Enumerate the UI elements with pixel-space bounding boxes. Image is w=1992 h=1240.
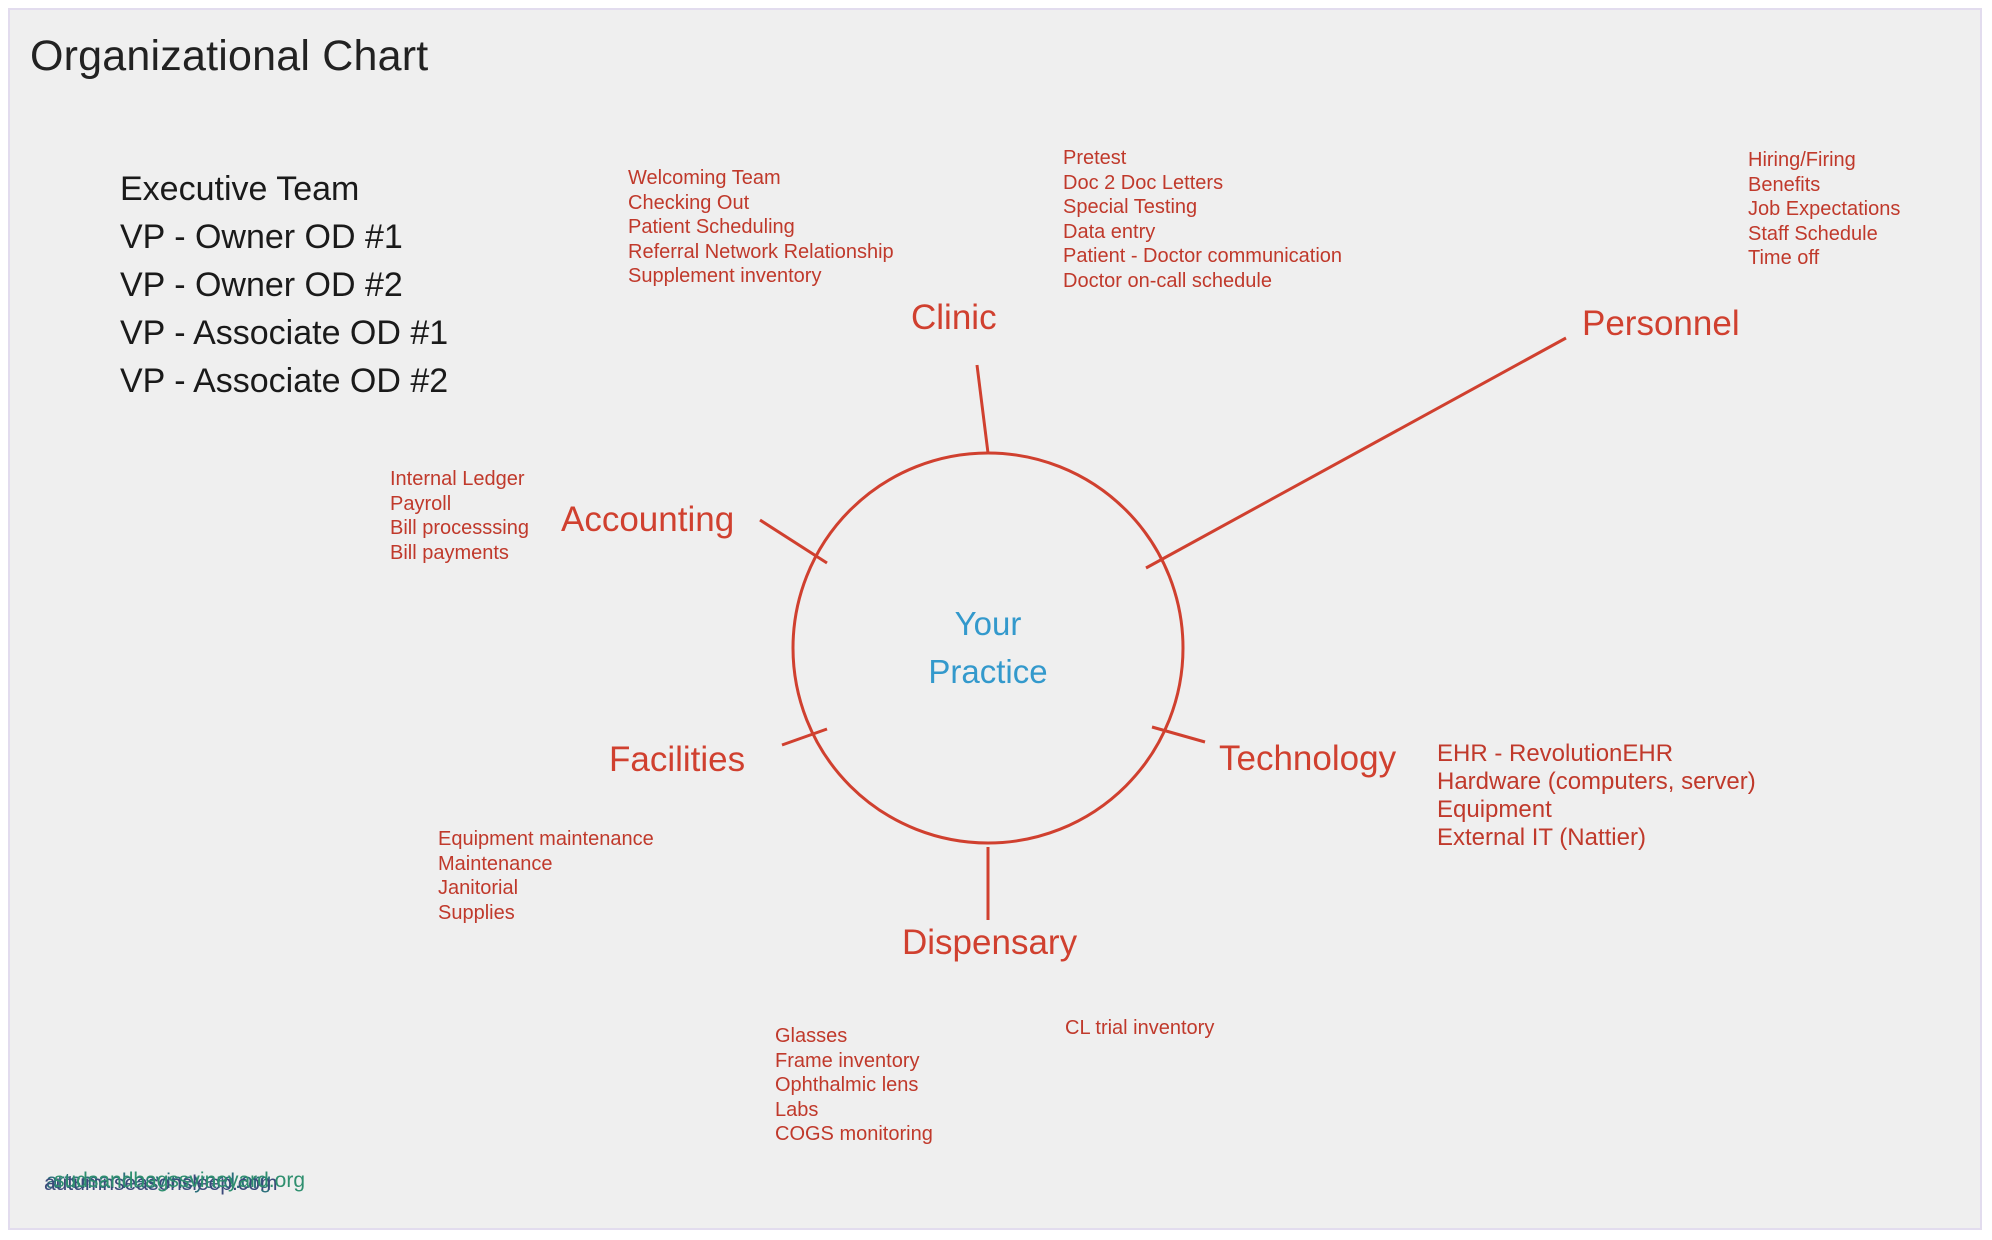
- node-facilities[interactable]: Facilities: [609, 740, 745, 780]
- detail-list-clinic: Welcoming Team Checking Out Patient Sche…: [628, 166, 894, 289]
- detail-list-accounting: Internal Ledger Payroll Bill processsing…: [390, 467, 529, 565]
- detail-item: Data entry: [1063, 220, 1342, 245]
- center-line-2: Practice: [838, 648, 1138, 696]
- executive-line-0: Executive Team: [120, 165, 448, 213]
- detail-item: Time off: [1748, 246, 1900, 271]
- detail-list-personnel: Hiring/Firing Benefits Job Expectations …: [1748, 148, 1900, 271]
- node-technology[interactable]: Technology: [1219, 739, 1396, 779]
- center-line-1: Your: [838, 600, 1138, 648]
- detail-item: Labs: [775, 1098, 933, 1123]
- detail-item: Frame inventory: [775, 1049, 933, 1074]
- detail-item: Supplies: [438, 901, 654, 926]
- node-accounting[interactable]: Accounting: [561, 500, 734, 540]
- detail-item: Patient Scheduling: [628, 215, 894, 240]
- detail-item: COGS monitoring: [775, 1122, 933, 1147]
- detail-item: Pretest: [1063, 146, 1342, 171]
- detail-item: External IT (Nattier): [1437, 824, 1756, 852]
- detail-item: Maintenance: [438, 852, 654, 877]
- executive-team-block: Executive Team VP - Owner OD #1 VP - Own…: [120, 165, 448, 405]
- detail-item: Patient - Doctor communication: [1063, 244, 1342, 269]
- executive-line-2: VP - Owner OD #2: [120, 261, 448, 309]
- node-personnel[interactable]: Personnel: [1582, 304, 1740, 344]
- node-dispensary[interactable]: Dispensary: [902, 923, 1077, 963]
- executive-line-3: VP - Associate OD #1: [120, 309, 448, 357]
- detail-item: EHR - RevolutionEHR: [1437, 740, 1756, 768]
- diagram-canvas: Organizational Chart Executive Team VP -…: [0, 0, 1992, 1240]
- detail-item: Special Testing: [1063, 195, 1342, 220]
- detail-item: Equipment maintenance: [438, 827, 654, 852]
- detail-item: Glasses: [775, 1024, 933, 1049]
- detail-list-pretest: Pretest Doc 2 Doc Letters Special Testin…: [1063, 146, 1342, 293]
- detail-list-dispensary-extra: CL trial inventory: [1065, 1016, 1214, 1041]
- node-clinic[interactable]: Clinic: [911, 298, 997, 338]
- detail-item: Doctor on-call schedule: [1063, 269, 1342, 294]
- detail-item: Hardware (computers, server): [1437, 768, 1756, 796]
- center-node-label: Your Practice: [838, 600, 1138, 696]
- detail-item: Janitorial: [438, 876, 654, 901]
- detail-item: Checking Out: [628, 191, 894, 216]
- detail-list-dispensary: Glasses Frame inventory Ophthalmic lens …: [775, 1024, 933, 1147]
- detail-item: Bill payments: [390, 541, 529, 566]
- detail-item: Benefits: [1748, 173, 1900, 198]
- footer-line-3: sudsandbagssvineyard.org: [54, 1169, 305, 1193]
- executive-line-4: VP - Associate OD #2: [120, 357, 448, 405]
- detail-item: Welcoming Team: [628, 166, 894, 191]
- detail-item: Hiring/Firing: [1748, 148, 1900, 173]
- detail-item: Equipment: [1437, 796, 1756, 824]
- detail-item: Ophthalmic lens: [775, 1073, 933, 1098]
- detail-item: Job Expectations: [1748, 197, 1900, 222]
- footer-watermark: artsmanhasvineyard.org autumnseasonsleep…: [44, 1168, 464, 1208]
- detail-item: Internal Ledger: [390, 467, 529, 492]
- detail-item: CL trial inventory: [1065, 1016, 1214, 1041]
- detail-item: Bill processsing: [390, 516, 529, 541]
- detail-item: Staff Schedule: [1748, 222, 1900, 247]
- page-title: Organizational Chart: [30, 32, 428, 81]
- detail-item: Referral Network Relationship: [628, 240, 894, 265]
- detail-item: Doc 2 Doc Letters: [1063, 171, 1342, 196]
- detail-list-technology: EHR - RevolutionEHR Hardware (computers,…: [1437, 740, 1756, 852]
- detail-list-facilities: Equipment maintenance Maintenance Janito…: [438, 827, 654, 925]
- detail-item: Supplement inventory: [628, 264, 894, 289]
- detail-item: Payroll: [390, 492, 529, 517]
- executive-line-1: VP - Owner OD #1: [120, 213, 448, 261]
